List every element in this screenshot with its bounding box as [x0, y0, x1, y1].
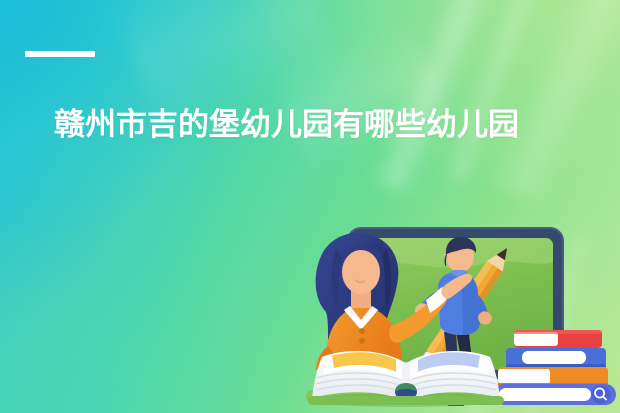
education-illustration [296, 204, 620, 413]
search-icon [592, 385, 611, 404]
promo-banner: 赣州市吉的堡幼儿园有哪些幼儿园 [0, 0, 620, 413]
title-divider-rule [25, 51, 95, 57]
search-bar-graphic [494, 384, 616, 405]
banner-title: 赣州市吉的堡幼儿园有哪些幼儿园 [54, 105, 519, 145]
stacked-books [498, 330, 608, 387]
